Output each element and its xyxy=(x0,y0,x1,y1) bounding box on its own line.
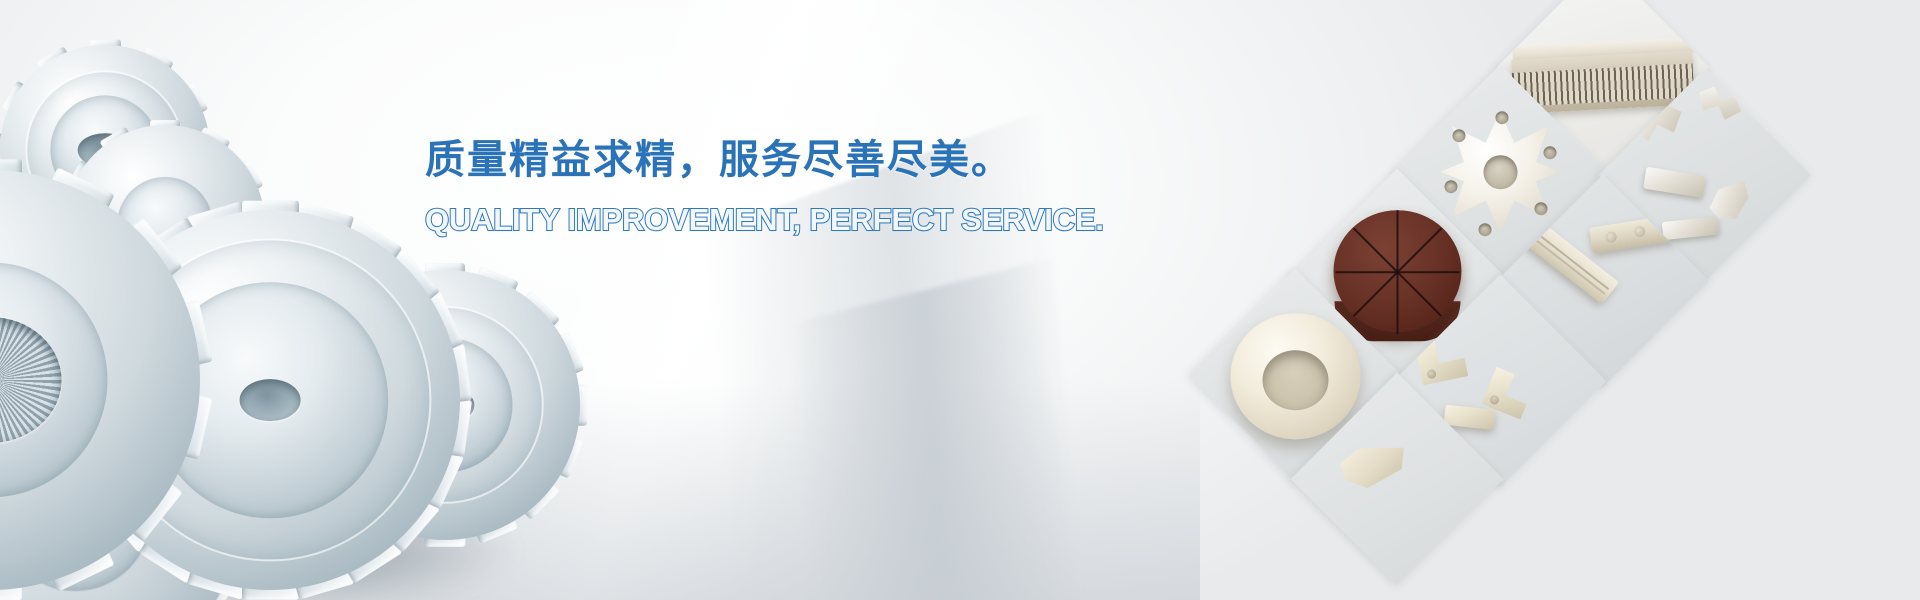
hero-banner: 质量精益求精，服务尽善尽美。 QUALITY IMPROVEMENT, PERF… xyxy=(0,0,1920,600)
product-collage xyxy=(1100,0,1920,600)
gear-cluster-illustration xyxy=(0,20,650,600)
gear-front-large xyxy=(0,170,200,590)
headline-english: QUALITY IMPROVEMENT, PERFECT SERVICE. xyxy=(425,203,1065,237)
headline-chinese: 质量精益求精，服务尽善尽美。 xyxy=(425,135,1065,185)
headline-block: 质量精益求精，服务尽善尽美。 QUALITY IMPROVEMENT, PERF… xyxy=(425,135,1065,237)
